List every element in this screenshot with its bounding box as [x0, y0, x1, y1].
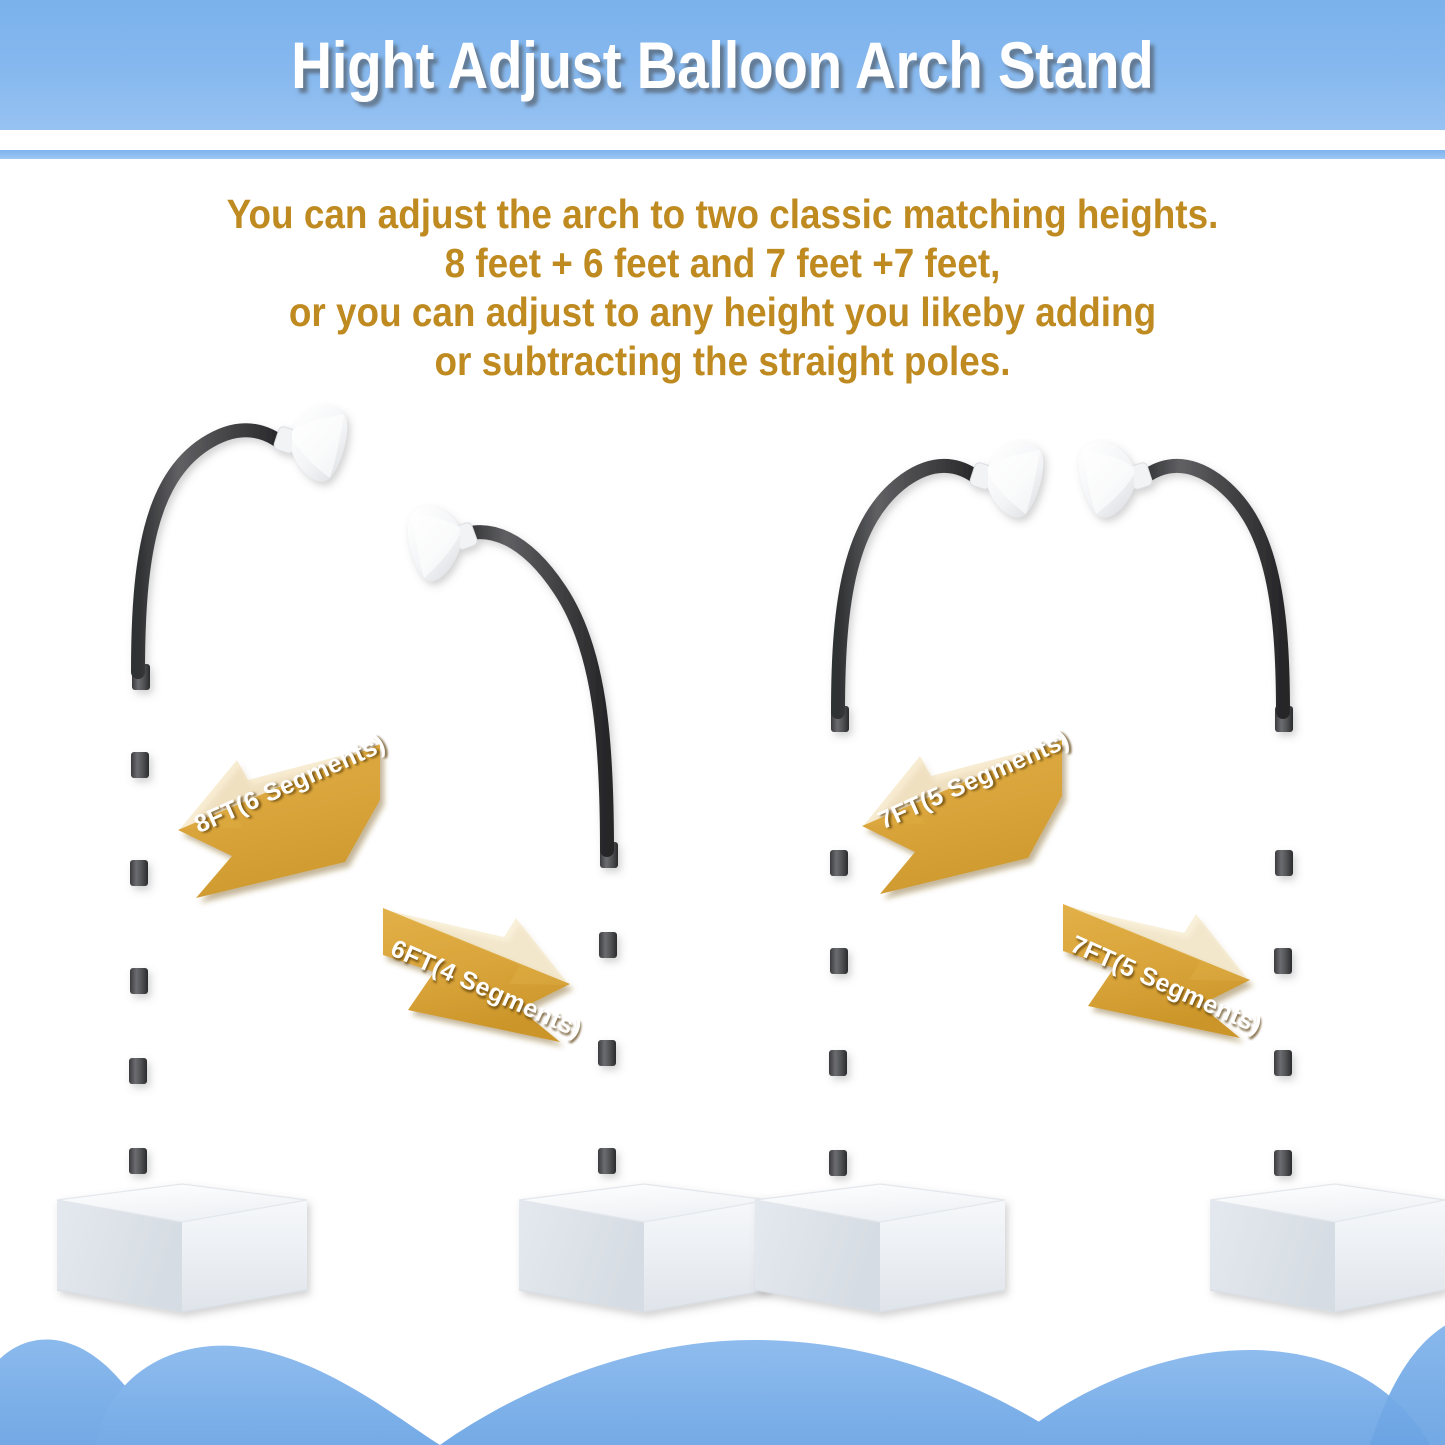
- stand-8ft: [57, 406, 347, 1312]
- stand-8ft-base: [57, 1184, 307, 1312]
- description-line-1: You can adjust the arch to two classic m…: [72, 190, 1373, 239]
- page-title: Hight Adjust Balloon Arch Stand: [291, 32, 1153, 98]
- arrow-label-7ft-left: 7FT(5 Segments): [874, 725, 1074, 835]
- bottom-wave-decoration: [0, 1310, 1445, 1445]
- stand-6ft-segment-joints: [598, 842, 618, 1174]
- stand-7ft-left-base: [755, 1184, 1005, 1312]
- stand-8ft-cap: [273, 406, 347, 481]
- stand-8ft-segment-joints: [129, 664, 150, 1174]
- stand-7ft-left: [755, 442, 1043, 1312]
- header-banner: Hight Adjust Balloon Arch Stand: [0, 0, 1445, 130]
- stand-7ft-right-segment-joints: [1274, 706, 1293, 1176]
- stand-7ft-left-segment-joints: [829, 706, 849, 1176]
- stand-6ft-base: [519, 1184, 769, 1312]
- stand-7ft-right-base: [1210, 1184, 1445, 1312]
- stand-6ft-cap: [408, 506, 479, 581]
- stand-7ft-left-cap: [969, 442, 1043, 517]
- arrow-label-7ft-right: 7FT(5 Segments): [1066, 930, 1266, 1040]
- arrow-label-6ft: 6FT(4 Segments): [386, 934, 586, 1044]
- product-infographic: Hight Adjust Balloon Arch Stand You can …: [0, 0, 1445, 1445]
- stand-7ft-right: [1079, 442, 1445, 1312]
- description-line-4: or subtracting the straight poles.: [72, 337, 1373, 386]
- header-divider-rule: [0, 150, 1445, 159]
- description-text: You can adjust the arch to two classic m…: [72, 190, 1373, 386]
- stand-6ft: [408, 506, 769, 1312]
- stand-7ft-right-cap: [1079, 442, 1153, 517]
- description-line-3: or you can adjust to any height you like…: [72, 288, 1373, 337]
- arrow-label-8ft: 8FT(6 Segments): [190, 729, 390, 839]
- description-line-2: 8 feet + 6 feet and 7 feet +7 feet,: [72, 239, 1373, 288]
